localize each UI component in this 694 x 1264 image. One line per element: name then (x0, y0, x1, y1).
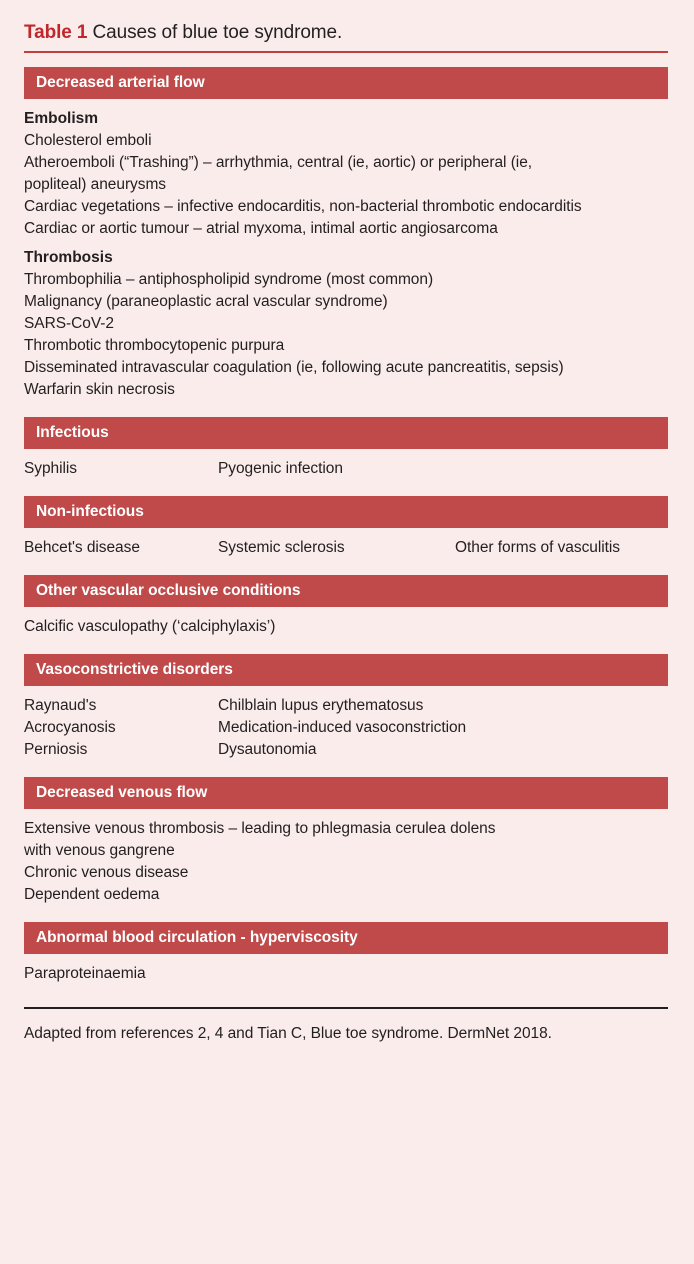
section-header-vasoconstrictive-disorders: Vasoconstrictive disorders (24, 654, 668, 686)
section-header-infectious: Infectious (24, 417, 668, 449)
section-body-decreased-arterial-flow: Embolism Cholesterol emboli Atheroemboli… (24, 99, 670, 401)
table-row: Perniosis Dysautonomia (24, 739, 670, 761)
table-footnote: Adapted from references 2, 4 and Tian C,… (24, 1009, 670, 1045)
list-item: Paraproteinaemia (24, 963, 670, 985)
title-divider (24, 51, 668, 53)
list-item: Cholesterol emboli (24, 130, 670, 152)
table-cell: Other forms of vasculitis (455, 537, 620, 559)
list-item: Cardiac or aortic tumour – atrial myxoma… (24, 218, 670, 240)
table-card: Table 1 Causes of blue toe syndrome. Dec… (0, 0, 694, 1264)
section-header-label: Decreased arterial flow (36, 75, 205, 91)
list-item: Malignancy (paraneoplastic acral vascula… (24, 291, 670, 313)
table-number-label: Table 1 (24, 22, 87, 43)
section-header-label: Non-infectious (36, 504, 144, 520)
table-row: Behcet's disease Systemic sclerosis Othe… (24, 537, 670, 559)
section-header-label: Decreased venous flow (36, 785, 207, 801)
section-header-other-vascular-occlusive-conditions: Other vascular occlusive conditions (24, 575, 668, 607)
list-item: Calcific vasculopathy (‘calciphylaxis’) (24, 616, 670, 638)
table-title-block: Table 1 Causes of blue toe syndrome. (24, 0, 670, 53)
section-body-other-vascular-occlusive-conditions: Calcific vasculopathy (‘calciphylaxis’) (24, 607, 670, 638)
table-cell: Raynaud's (24, 695, 96, 717)
table-cell: Acrocyanosis (24, 717, 116, 739)
table-caption: Table 1 Causes of blue toe syndrome. (24, 21, 670, 45)
section-header-label: Abnormal blood circulation - hyperviscos… (36, 930, 358, 946)
section-body-decreased-venous-flow: Extensive venous thrombosis – leading to… (24, 809, 670, 906)
table-cell: Dysautonomia (218, 739, 316, 761)
subheading-thrombosis: Thrombosis (24, 240, 670, 269)
list-item: Disseminated intravascular coagulation (… (24, 357, 670, 379)
list-item: Chronic venous disease (24, 862, 670, 884)
list-item: Atheroemboli (“Trashing”) – arrhythmia, … (24, 152, 670, 174)
section-header-decreased-arterial-flow: Decreased arterial flow (24, 67, 668, 99)
section-body-infectious: Syphilis Pyogenic infection (24, 449, 670, 480)
list-item: Warfarin skin necrosis (24, 379, 670, 401)
list-item: SARS-CoV-2 (24, 313, 670, 335)
section-header-label: Vasoconstrictive disorders (36, 662, 233, 678)
table-cell: Perniosis (24, 739, 87, 761)
table-cell: Systemic sclerosis (218, 537, 345, 559)
list-item: Thrombotic thrombocytopenic purpura (24, 335, 670, 357)
list-item: Cardiac vegetations – infective endocard… (24, 196, 670, 218)
section-header-label: Other vascular occlusive conditions (36, 583, 300, 599)
section-header-decreased-venous-flow: Decreased venous flow (24, 777, 668, 809)
section-body-abnormal-blood-circulation: Paraproteinaemia (24, 954, 670, 985)
table-row: Syphilis Pyogenic infection (24, 458, 670, 480)
table-cell: Pyogenic infection (218, 458, 343, 480)
table-cell: Medication-induced vasoconstriction (218, 717, 466, 739)
table-row: Raynaud's Chilblain lupus erythematosus (24, 695, 670, 717)
list-item: Dependent oedema (24, 884, 670, 906)
list-item: with venous gangrene (24, 840, 670, 862)
list-item: Extensive venous thrombosis – leading to… (24, 818, 670, 840)
list-item: Thrombophilia – antiphospholipid syndrom… (24, 269, 670, 291)
section-body-non-infectious: Behcet's disease Systemic sclerosis Othe… (24, 528, 670, 559)
section-header-non-infectious: Non-infectious (24, 496, 668, 528)
section-header-label: Infectious (36, 425, 109, 441)
table-cell: Behcet's disease (24, 537, 140, 559)
table-cell: Chilblain lupus erythematosus (218, 695, 423, 717)
subheading-embolism: Embolism (24, 108, 670, 130)
table-title-text: Causes of blue toe syndrome. (87, 22, 342, 43)
section-header-abnormal-blood-circulation: Abnormal blood circulation - hyperviscos… (24, 922, 668, 954)
section-body-vasoconstrictive-disorders: Raynaud's Chilblain lupus erythematosus … (24, 686, 670, 761)
list-item: popliteal) aneurysms (24, 174, 670, 196)
table-cell: Syphilis (24, 458, 77, 480)
table-row: Acrocyanosis Medication-induced vasocons… (24, 717, 670, 739)
